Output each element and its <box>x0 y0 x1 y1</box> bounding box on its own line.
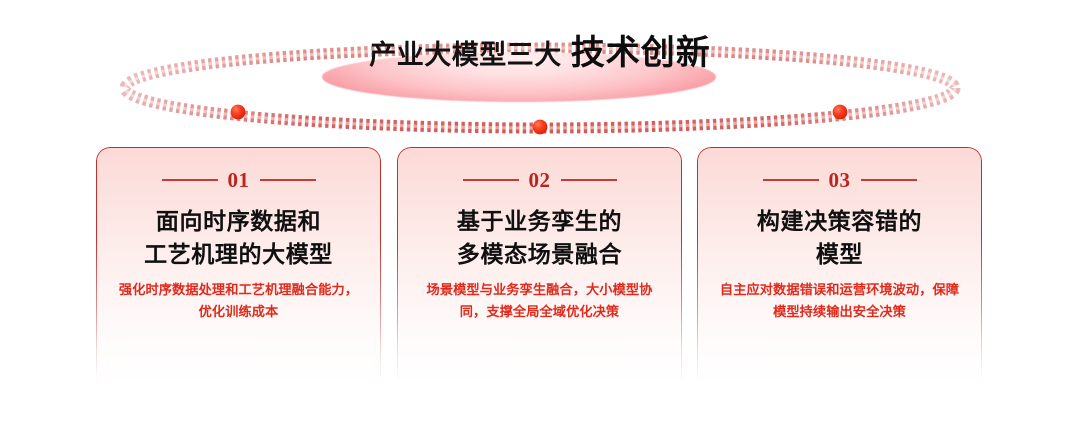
feature-card-row: 01 面向时序数据和 工艺机理的大模型 强化时序数据处理和工艺机理融合能力，优化… <box>0 147 1080 392</box>
card-number-row: 02 <box>397 169 682 191</box>
card-number: 02 <box>529 170 551 191</box>
card-title-line-2: 多模态场景融合 <box>457 238 622 271</box>
card-number: 03 <box>829 170 851 191</box>
card-title: 基于业务孪生的 多模态场景融合 <box>457 205 622 270</box>
infographic-canvas: 产业大模型三大技术创新 01 面向时序数据和 工艺机理的大模型 强化时序数据处理… <box>0 0 1080 432</box>
rule-right-icon <box>561 179 617 181</box>
orbit-dot-right <box>833 105 848 120</box>
feature-card-03[interactable]: 03 构建决策容错的 模型 自主应对数据错误和运营环境波动，保障模型持续输出安全… <box>697 147 982 385</box>
rule-right-icon <box>861 179 917 181</box>
rule-right-icon <box>260 179 316 181</box>
feature-card-01[interactable]: 01 面向时序数据和 工艺机理的大模型 强化时序数据处理和工艺机理融合能力，优化… <box>96 147 381 385</box>
card-title-line-1: 基于业务孪生的 <box>457 205 622 238</box>
page-title: 产业大模型三大技术创新 <box>0 36 1080 70</box>
card-title: 构建决策容错的 模型 <box>757 205 922 270</box>
card-number: 01 <box>228 170 250 191</box>
rule-left-icon <box>763 179 819 181</box>
card-description: 场景模型与业务孪生融合，大小模型协同，支撑全局全域优化决策 <box>416 279 664 322</box>
header-area: 产业大模型三大技术创新 <box>0 0 1080 148</box>
card-number-row: 01 <box>96 169 381 191</box>
card-number-row: 03 <box>697 169 982 191</box>
rule-left-icon <box>162 179 218 181</box>
orbit-dot-center <box>533 120 548 135</box>
card-title-line-1: 构建决策容错的 <box>757 205 922 238</box>
orbit-dot-left <box>231 105 246 120</box>
card-title: 面向时序数据和 工艺机理的大模型 <box>144 205 333 270</box>
card-title-line-1: 面向时序数据和 <box>144 205 333 238</box>
rule-left-icon <box>463 179 519 181</box>
feature-card-02[interactable]: 02 基于业务孪生的 多模态场景融合 场景模型与业务孪生融合，大小模型协同，支撑… <box>397 147 682 385</box>
page-title-emphasis: 技术创新 <box>571 34 711 72</box>
card-title-line-2: 工艺机理的大模型 <box>144 238 333 271</box>
page-title-lead: 产业大模型三大 <box>369 40 562 70</box>
card-description: 自主应对数据错误和运营环境波动，保障模型持续输出安全决策 <box>716 279 964 322</box>
card-title-line-2: 模型 <box>757 238 922 271</box>
card-description: 强化时序数据处理和工艺机理融合能力，优化训练成本 <box>115 279 363 322</box>
